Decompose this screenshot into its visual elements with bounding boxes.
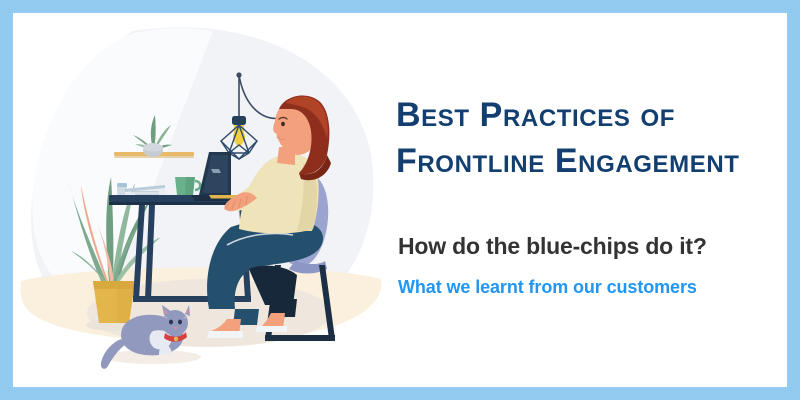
headline-text-block: Best Practices of Frontline Engagement H… [396, 13, 787, 387]
headline-line-2: Frontline Engagement [396, 144, 740, 178]
tagline: What we learnt from our customers [398, 278, 697, 296]
promotional-banner: Best Practices of Frontline Engagement H… [0, 0, 800, 400]
headline-line-1: Best Practices of [396, 98, 675, 132]
subheadline: How do the blue-chips do it? [398, 235, 707, 258]
workspace-illustration [13, 13, 393, 387]
